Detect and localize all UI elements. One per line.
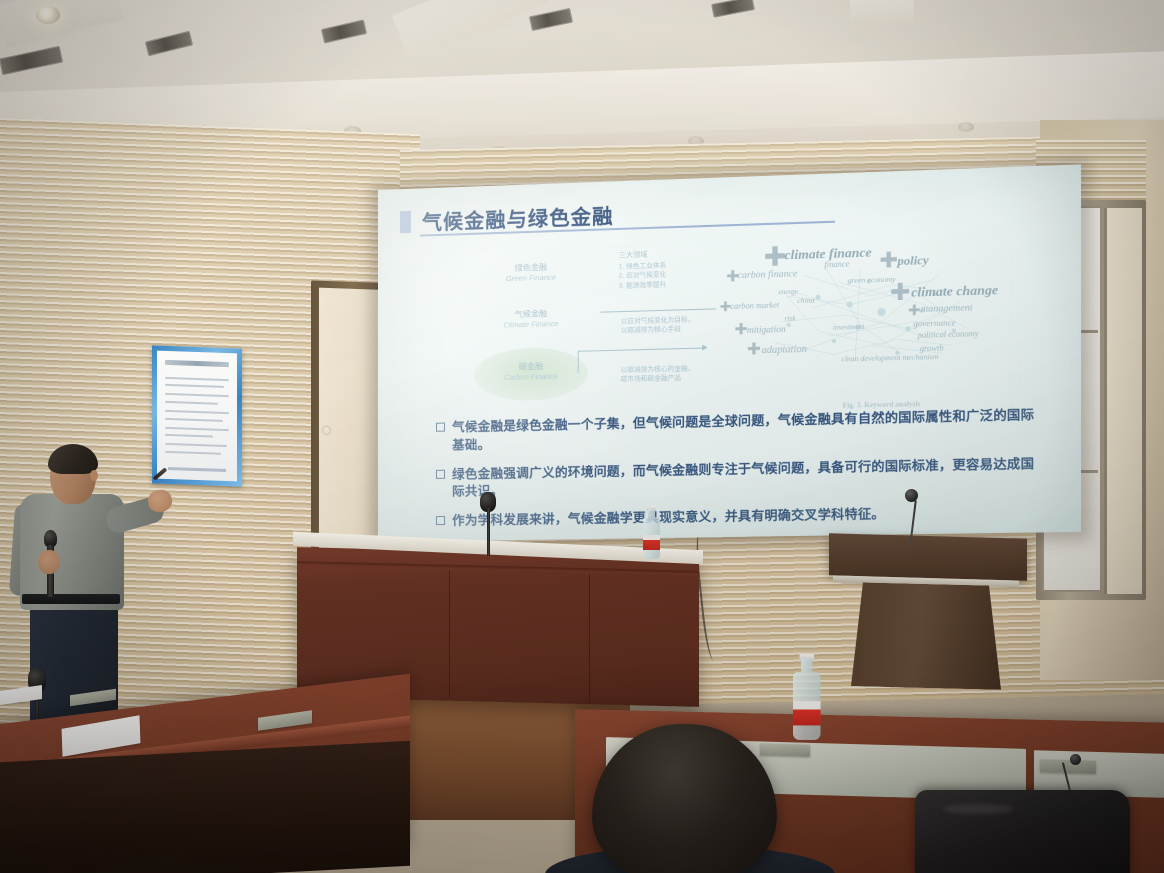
presenter-left-hand bbox=[38, 550, 60, 574]
bullet-square-icon bbox=[436, 469, 445, 478]
keyword-carbon-finance: carbon finance bbox=[738, 269, 798, 281]
concept-note-upper: 以应对气候变化为目标， 以碳减排为核心手段 bbox=[621, 314, 720, 336]
microphone-head bbox=[1070, 754, 1081, 765]
presenter-hair bbox=[48, 444, 98, 474]
node-marker-icon: ✚ bbox=[734, 322, 747, 338]
presenter-pen bbox=[153, 467, 168, 480]
ceiling-downlight bbox=[958, 122, 974, 132]
concept-level-climate: 气候金融 Climate Finance bbox=[484, 308, 577, 330]
title-accent-block bbox=[400, 211, 411, 233]
screen-surface: 气候金融与绿色金融 绿色金融 Green Finance 气候金融 Climat… bbox=[378, 164, 1081, 542]
keyword-china: china bbox=[797, 295, 815, 305]
poster-title-bar bbox=[165, 360, 229, 367]
slide: 气候金融与绿色金融 绿色金融 Green Finance 气候金融 Climat… bbox=[400, 184, 1059, 526]
presidium-edge bbox=[297, 561, 699, 575]
keyword-climate-change: climate change bbox=[911, 282, 998, 301]
water-bottle[interactable] bbox=[793, 656, 821, 740]
node-marker-icon: ✚ bbox=[764, 243, 787, 270]
bottle-neck bbox=[648, 509, 655, 517]
bullet-square-icon bbox=[436, 516, 445, 525]
concept-list: 三大领域 1. 绿色工业体系 2. 应对气候变化 3. 能源效率提升 bbox=[619, 247, 722, 291]
node-marker-icon: ✚ bbox=[879, 250, 898, 272]
laptop-bag bbox=[915, 790, 1130, 873]
bullet-text: 作为学科发展来讲，气候金融学更具现实意义，并具有明确交叉学科特征。 bbox=[452, 505, 885, 530]
concept-level-carbon: 碳金融 Carbon Finance bbox=[484, 361, 577, 383]
lectern-top bbox=[829, 533, 1027, 581]
keyword-adaptation: adaptation bbox=[762, 344, 807, 356]
lectern-body bbox=[851, 582, 1001, 690]
lectern-gooseneck-microphone bbox=[905, 489, 925, 545]
bottle-label bbox=[793, 701, 821, 725]
bag-highlight bbox=[943, 804, 1013, 814]
projection-screen: 气候金融与绿色金融 绿色金融 Green Finance 气候金融 Climat… bbox=[378, 164, 1081, 542]
concept-diagram: 绿色金融 Green Finance 气候金融 Climate Finance … bbox=[468, 245, 724, 404]
ceiling-panel bbox=[850, 0, 914, 22]
keyword-energy: energy bbox=[778, 288, 798, 297]
lecture-hall-scene: 气候金融与绿色金融 绿色金融 Green Finance 气候金融 Climat… bbox=[0, 0, 1164, 873]
keyword-carbon-market: carbon market bbox=[730, 300, 779, 311]
node-marker-icon: ✚ bbox=[908, 303, 920, 318]
keyword-finance: finance bbox=[824, 259, 849, 269]
ceiling-downlight bbox=[36, 6, 60, 24]
bullet-text: 绿色金融强调广义的环境问题，而气候金融则专注于气候问题，具备可行的国际标准，更容… bbox=[452, 454, 1044, 501]
keyword-green-economy: green economy bbox=[848, 274, 896, 285]
keyword-risk: risk bbox=[785, 314, 796, 323]
desk-nameplate bbox=[760, 743, 810, 756]
node-marker-icon: ✚ bbox=[890, 280, 910, 304]
slide-bullet-list: 气候金融是绿色金融一个子集，但气候问题是全球问题，气候金融具有自然的国际属性和广… bbox=[436, 405, 1044, 541]
desk-gooseneck-microphone bbox=[1060, 754, 1084, 794]
slide-bullet: 绿色金融强调广义的环境问题，而气候金融则专注于气候问题，具备可行的国际标准，更容… bbox=[436, 454, 1044, 501]
presenter-ear bbox=[90, 470, 98, 481]
keyword-governance: governance bbox=[913, 317, 955, 328]
slide-bullet: 作为学科发展来讲，气候金融学更具现实意义，并具有明确交叉学科特征。 bbox=[436, 502, 1044, 530]
desk-left-front-panel bbox=[0, 741, 410, 873]
keyword-investment: investment bbox=[833, 323, 865, 332]
side-door-leaf[interactable] bbox=[1104, 208, 1142, 594]
water-bottle[interactable] bbox=[643, 507, 660, 559]
concept-note-lower: 以碳减排为核心的金融， 碳市场和碳金融产品 bbox=[621, 363, 720, 385]
slide-bullet: 气候金融是绿色金融一个子集，但气候问题是全球问题，气候金融具有自然的国际属性和广… bbox=[436, 405, 1044, 454]
bottle-neck bbox=[801, 659, 812, 672]
keyword-political-economy: political economy bbox=[918, 329, 979, 340]
keyword-policy: policy bbox=[897, 253, 928, 269]
door-handle[interactable] bbox=[323, 427, 330, 434]
concept-level-green: 绿色金融 Green Finance bbox=[484, 262, 577, 284]
microphone-stem bbox=[909, 500, 917, 546]
node-marker-icon: ✚ bbox=[747, 342, 761, 359]
table-microphone-stem bbox=[487, 508, 490, 556]
keyword-management: management bbox=[921, 303, 973, 315]
keyword-mitigation: mitigation bbox=[747, 324, 786, 335]
lectern bbox=[829, 536, 1027, 686]
bullet-text: 气候金融是绿色金融一个子集，但气候问题是全球问题，气候金融具有自然的国际属性和广… bbox=[452, 405, 1044, 454]
bullet-square-icon bbox=[436, 423, 445, 432]
keyword-network-figure: ✚ climate finance ✚ policy ✚ climate cha… bbox=[724, 226, 1042, 412]
presenter-belt bbox=[22, 594, 120, 604]
bottle-label bbox=[643, 535, 660, 550]
